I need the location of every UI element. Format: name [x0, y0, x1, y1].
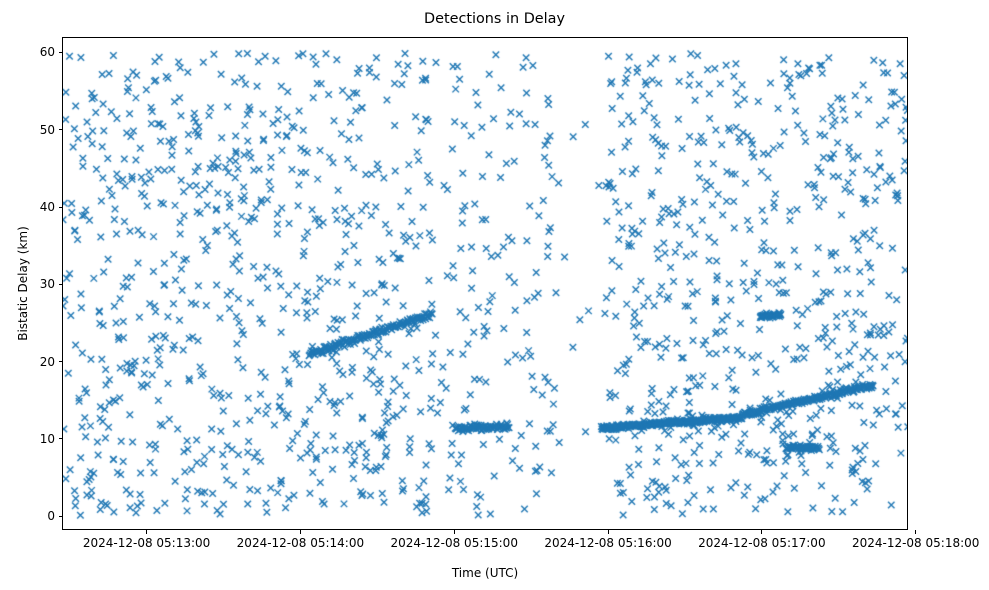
x-tick-mark: [761, 530, 762, 534]
matplotlib-figure: Detections in Delay Bistatic Delay (km) …: [0, 0, 989, 590]
x-tick-label: 2024-12-08 05:18:00: [841, 537, 989, 549]
x-tick-label: 2024-12-08 05:16:00: [533, 537, 683, 549]
x-tick-label: 2024-12-08 05:17:00: [687, 537, 837, 549]
plot-area: [62, 37, 908, 530]
x-tick-mark: [146, 530, 147, 534]
x-tick-mark: [608, 530, 609, 534]
x-tick-mark: [300, 530, 301, 534]
x-tick-label: 2024-12-08 05:13:00: [72, 537, 222, 549]
x-tick-label: 2024-12-08 05:15:00: [379, 537, 529, 549]
scatter-points-canvas: [63, 38, 908, 530]
x-tick-mark: [915, 530, 916, 534]
x-axis-label: Time (UTC): [62, 566, 908, 580]
x-tick-mark: [454, 530, 455, 534]
x-tick-label: 2024-12-08 05:14:00: [225, 537, 375, 549]
